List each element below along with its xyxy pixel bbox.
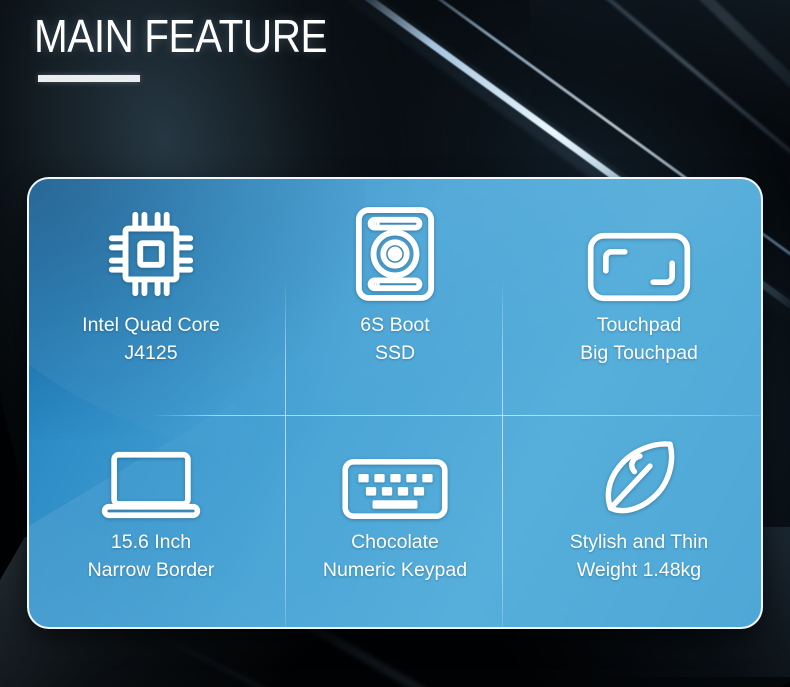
feature-label-ssd: 6S Boot SSD bbox=[360, 312, 429, 367]
feature-label-line1: Touchpad bbox=[597, 314, 682, 336]
feature-label-line1: Intel Quad Core bbox=[82, 314, 220, 336]
touchpad-icon bbox=[585, 215, 693, 303]
feature-label-line1: Chocolate bbox=[351, 531, 439, 553]
feature-label-line1: 6S Boot bbox=[360, 314, 429, 336]
page-title: MAIN FEATURE bbox=[34, 10, 699, 63]
cpu-chip-icon bbox=[102, 215, 200, 303]
ssd-drive-icon bbox=[353, 215, 437, 303]
feature-cell-keyboard[interactable]: Chocolate Numeric Keypad bbox=[273, 403, 517, 627]
feature-label-keyboard: Chocolate Numeric Keypad bbox=[323, 529, 467, 584]
feather-icon bbox=[597, 446, 681, 520]
feature-label-line2: Big Touchpad bbox=[580, 340, 698, 368]
laptop-icon bbox=[100, 446, 202, 520]
feature-cell-touchpad[interactable]: Touchpad Big Touchpad bbox=[517, 179, 761, 403]
feature-cell-cpu[interactable]: Intel Quad Core J4125 bbox=[29, 179, 273, 403]
feature-label-touchpad: Touchpad Big Touchpad bbox=[580, 312, 698, 367]
feature-label-line2: Narrow Border bbox=[88, 557, 215, 585]
feature-label-line2: J4125 bbox=[82, 340, 220, 368]
header: MAIN FEATURE bbox=[0, 0, 790, 82]
feature-label-line2: Numeric Keypad bbox=[323, 557, 467, 585]
feature-label-cpu: Intel Quad Core J4125 bbox=[82, 312, 220, 367]
feature-grid: Intel Quad Core J4125 bbox=[29, 179, 761, 627]
feature-label-weight: Stylish and Thin Weight 1.48kg bbox=[570, 529, 708, 584]
title-underline-rule bbox=[38, 75, 140, 82]
feature-label-line1: Stylish and Thin bbox=[570, 531, 708, 553]
feature-label-line2: SSD bbox=[360, 340, 429, 368]
feature-panel: Intel Quad Core J4125 bbox=[27, 177, 763, 629]
feature-cell-weight[interactable]: Stylish and Thin Weight 1.48kg bbox=[517, 403, 761, 627]
keyboard-icon bbox=[341, 446, 449, 520]
feature-label-line2: Weight 1.48kg bbox=[570, 557, 708, 585]
feature-cell-ssd[interactable]: 6S Boot SSD bbox=[273, 179, 517, 403]
feature-label-line1: 15.6 Inch bbox=[111, 531, 191, 553]
feature-cell-display[interactable]: 15.6 Inch Narrow Border bbox=[29, 403, 273, 627]
feature-label-display: 15.6 Inch Narrow Border bbox=[88, 529, 215, 584]
